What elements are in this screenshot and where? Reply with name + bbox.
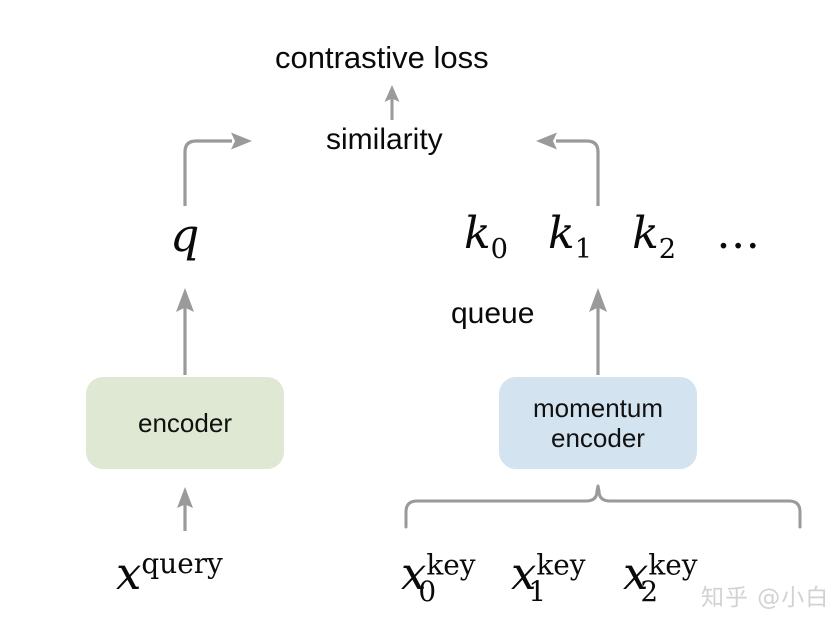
moco-architecture-diagram: contrastive loss similarity q k0 k1 k2 ……: [0, 0, 826, 634]
encoder-box-label: encoder: [138, 408, 232, 438]
key-inputs-brace: [406, 486, 800, 527]
queue-label: queue: [451, 299, 534, 329]
arrow-encoder-to-q: [176, 288, 194, 375]
arrow-query-to-similarity: [185, 133, 252, 207]
similarity-label: similarity: [326, 125, 443, 155]
encoder-box[interactable]: encoder: [86, 377, 284, 469]
arrow-momentum-encoder-to-k: [589, 288, 607, 375]
query-input-label: xquery: [116, 551, 223, 596]
query-representation-label: q: [170, 212, 199, 258]
momentum-encoder-box-label: momentum encoder: [533, 393, 663, 453]
key-representations-label: k0 k1 k2 …: [464, 212, 760, 256]
contrastive-loss-label: contrastive loss: [275, 42, 489, 73]
query-input-superscript: query: [141, 547, 222, 580]
query-symbol: q: [170, 208, 199, 262]
key-representation-1: k1: [548, 208, 592, 259]
key-representation-2: k2: [632, 208, 676, 259]
key-input-1-label: xkey1: [511, 551, 546, 596]
arrow-keys-to-similarity: [536, 133, 598, 207]
arrow-xquery-to-encoder: [177, 487, 193, 531]
key-representations-ellipsis: …: [716, 208, 760, 259]
key-representation-0: k0: [464, 208, 508, 259]
key-input-2-label: xkey2: [623, 551, 658, 596]
momentum-encoder-line2: encoder: [551, 423, 645, 453]
momentum-encoder-box[interactable]: momentum encoder: [499, 377, 697, 469]
arrow-similarity-to-loss: [385, 85, 400, 120]
momentum-encoder-line1: momentum: [533, 393, 663, 423]
watermark: 知乎 @小白: [701, 587, 826, 610]
query-input-base: x: [116, 547, 141, 600]
connector-layer: [0, 0, 826, 634]
key-input-0-label: xkey0: [401, 551, 436, 596]
